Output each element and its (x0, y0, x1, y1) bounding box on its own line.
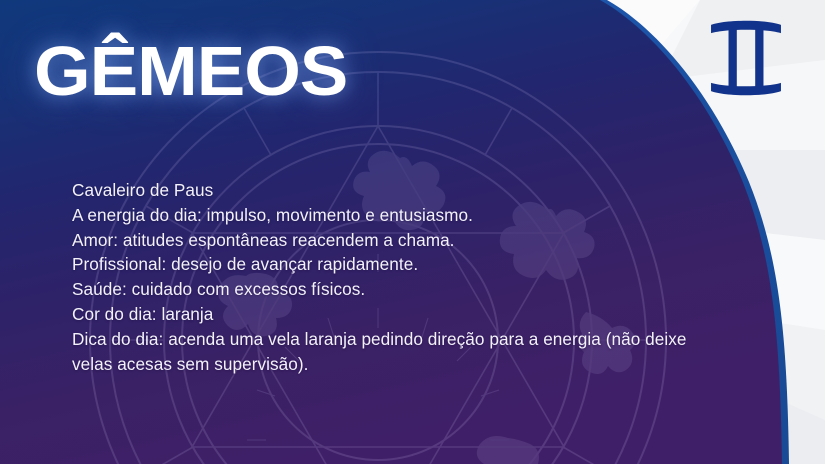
reading-line: Cor do dia: laranja (72, 302, 762, 327)
reading-line: Profissional: desejo de avançar rapidame… (72, 252, 762, 277)
reading-line: Saúde: cuidado com excessos físicos. (72, 277, 762, 302)
reading-line: Dica do dia: acenda uma vela laranja ped… (72, 327, 762, 352)
gemini-glyph-icon (700, 12, 792, 104)
reading-line: Cavaleiro de Paus (72, 178, 762, 203)
reading-line: velas acesas sem supervisão). (72, 352, 762, 377)
horoscope-card: GÊMEOS Cavaleiro de Paus A energia do di… (0, 0, 825, 464)
horoscope-text: Cavaleiro de Paus A energia do dia: impu… (72, 178, 762, 376)
page-title: GÊMEOS (34, 36, 347, 106)
reading-line: Amor: atitudes espontâneas reacendem a c… (72, 228, 762, 253)
reading-line: A energia do dia: impulso, movimento e e… (72, 203, 762, 228)
